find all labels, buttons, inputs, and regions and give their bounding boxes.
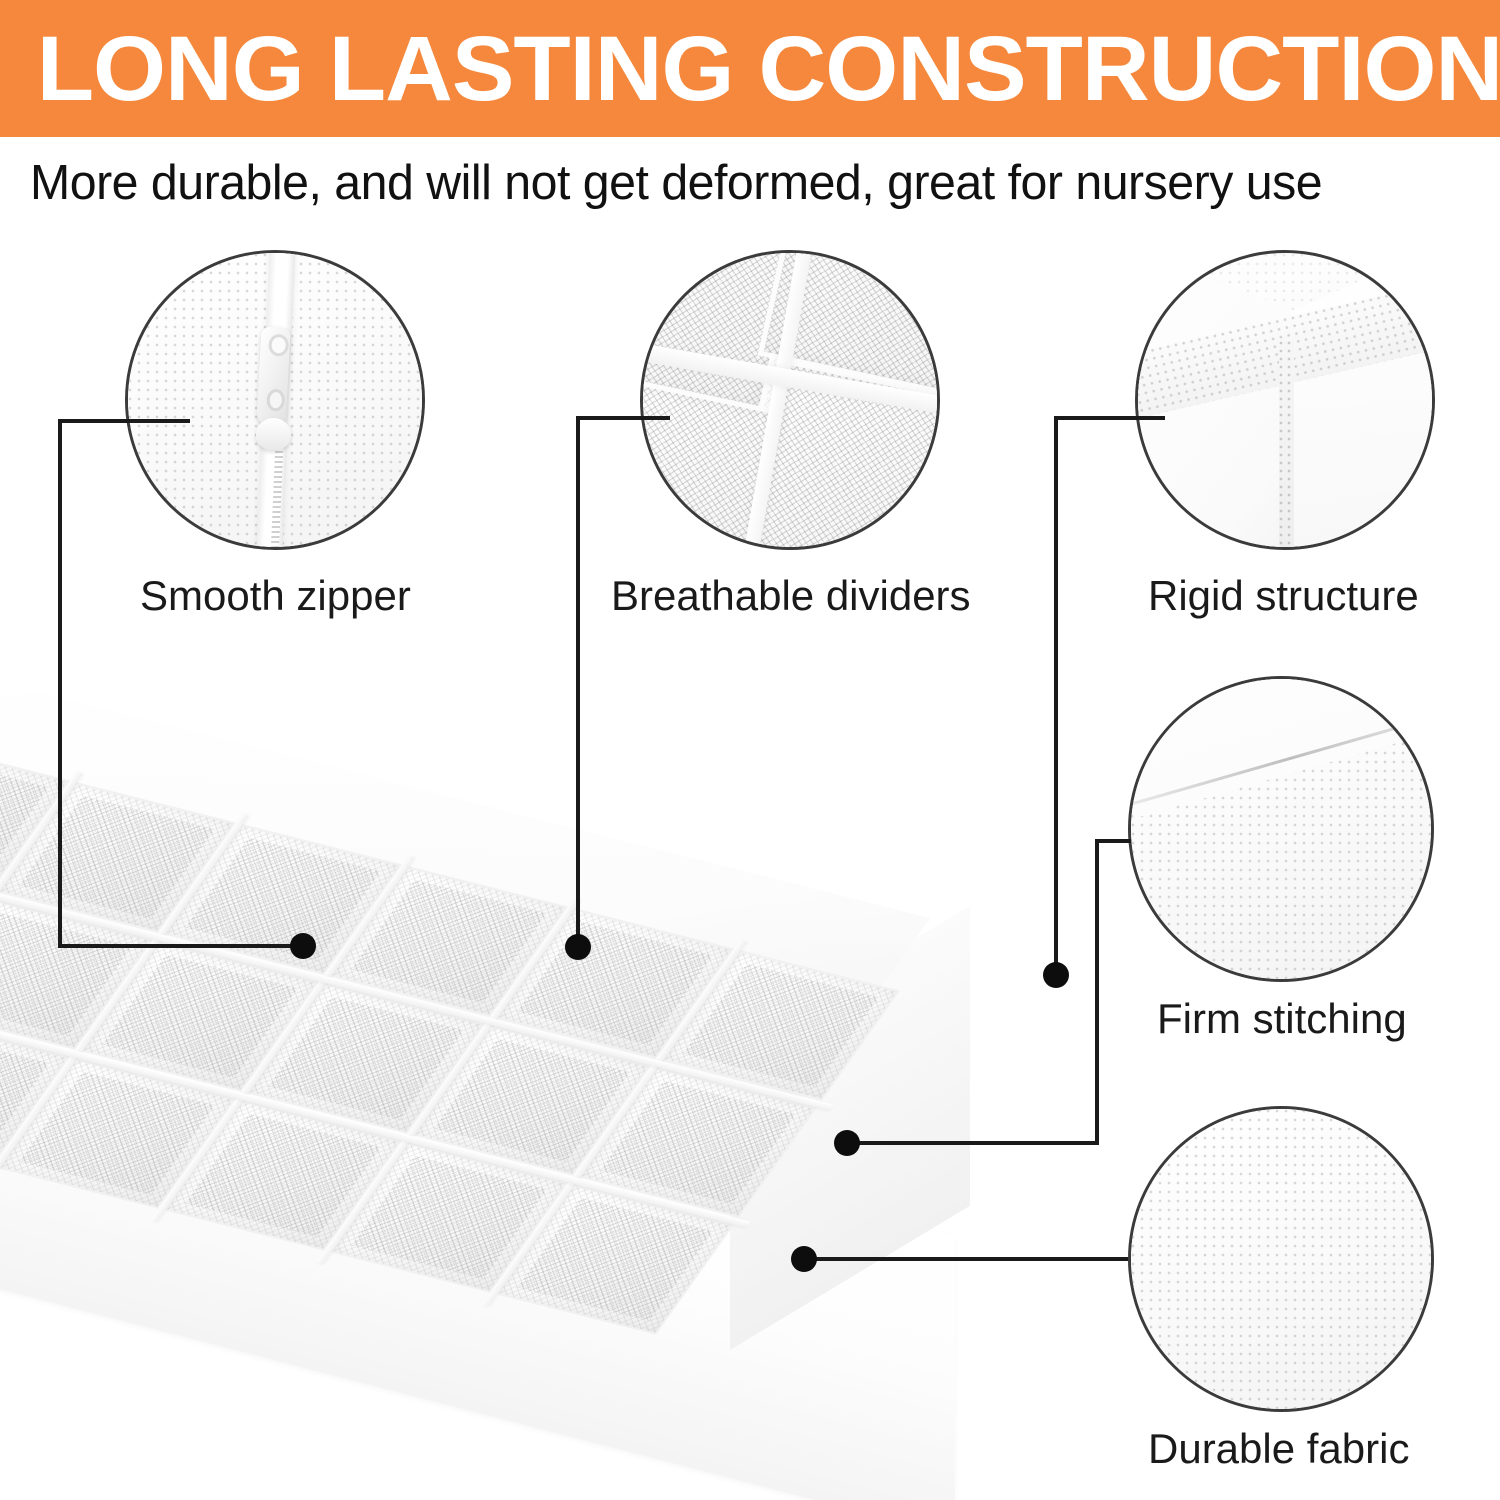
page-title: LONG LASTING CONSTRUCTION (0, 23, 1500, 115)
zipper-pull-icon (256, 326, 291, 427)
callout-label-rigid-structure: Rigid structure (1148, 572, 1419, 620)
infographic-page: LONG LASTING CONSTRUCTION More durable, … (0, 0, 1500, 1500)
callout-label-breathable-dividers: Breathable dividers (611, 572, 971, 620)
product-photo (0, 620, 1150, 1500)
organizer-box (0, 620, 1150, 1500)
callout-label-durable-fabric: Durable fabric (1148, 1425, 1409, 1473)
subtitle-text: More durable, and will not get deformed,… (30, 152, 1448, 214)
callout-image-rigid-structure (1135, 250, 1435, 550)
callout-label-firm-stitching: Firm stitching (1157, 995, 1407, 1043)
callout-image-firm-stitching (1128, 676, 1434, 982)
corner-seam (1279, 341, 1294, 550)
callout-image-smooth-zipper (125, 250, 425, 550)
fabric-texture (1131, 1109, 1431, 1409)
callout-label-smooth-zipper: Smooth zipper (140, 572, 411, 620)
callout-image-breathable-dividers (640, 250, 940, 550)
callout-image-durable-fabric (1128, 1106, 1434, 1412)
zipper-tab (256, 418, 291, 450)
header-banner: LONG LASTING CONSTRUCTION (0, 0, 1500, 137)
